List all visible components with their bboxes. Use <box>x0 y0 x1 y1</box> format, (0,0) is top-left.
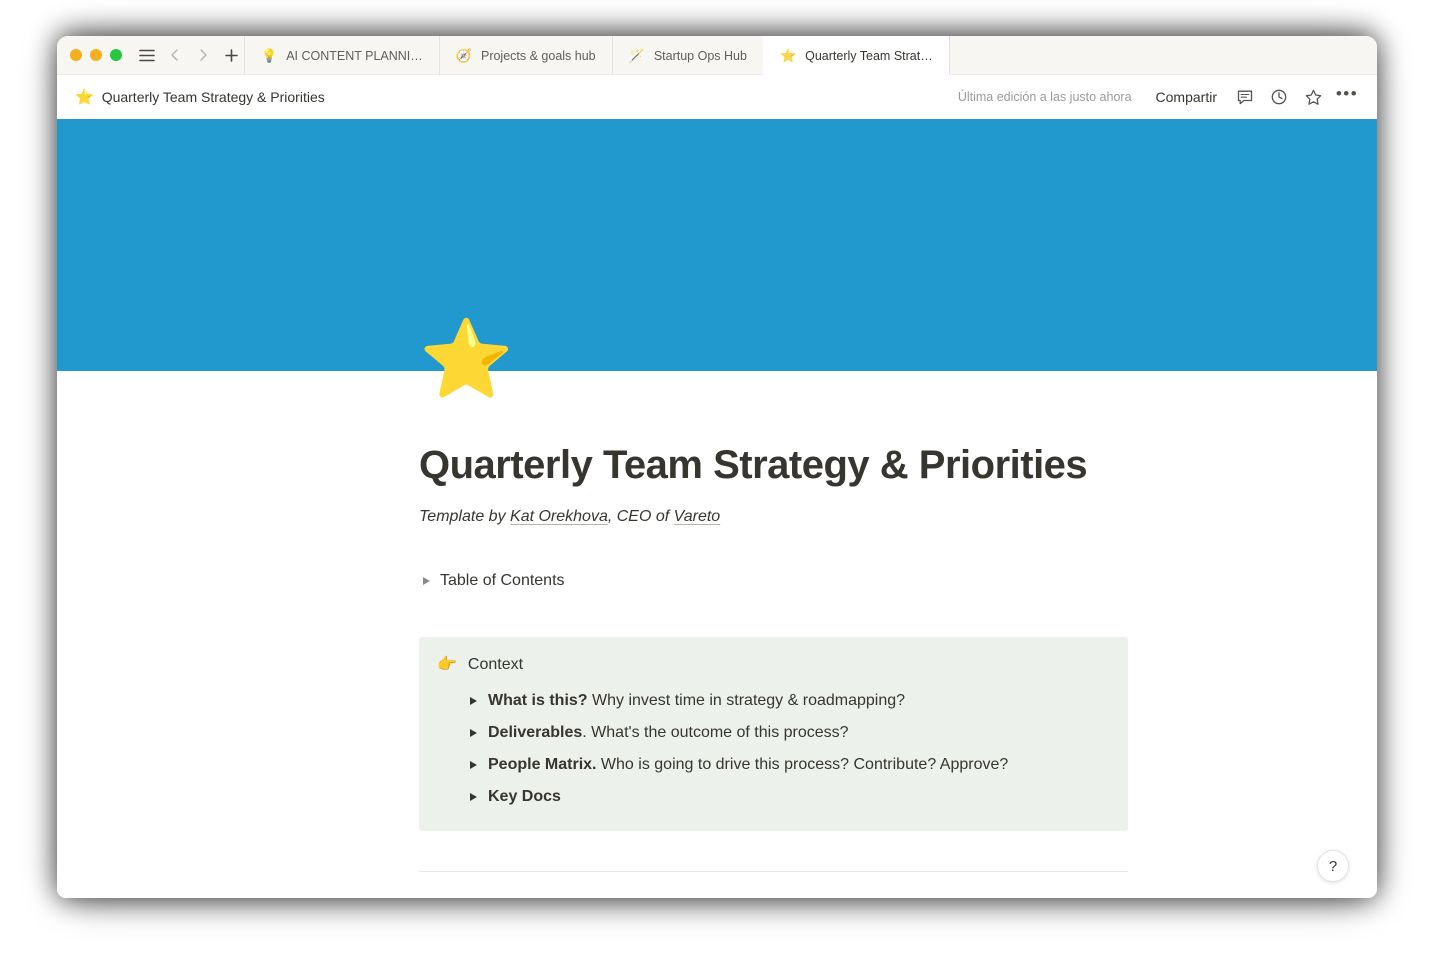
navigation-controls <box>126 36 244 74</box>
toggle-bold: Key Docs <box>488 788 561 805</box>
maximize-window-button[interactable] <box>110 49 122 61</box>
favorite-star-icon[interactable] <box>1299 83 1327 111</box>
header-actions: Última edición a las justo ahora Compart… <box>958 83 1361 111</box>
tab-quarterly-team-strategy[interactable]: ⭐ Quarterly Team Strat… <box>763 36 949 75</box>
toggle-rest: Why invest time in strategy & roadmappin… <box>588 692 905 709</box>
breadcrumb[interactable]: ⭐ Quarterly Team Strategy & Priorities <box>75 89 325 105</box>
page-title[interactable]: Quarterly Team Strategy & Priorities <box>419 443 1127 487</box>
toggle-bold: People Matrix. <box>488 756 596 773</box>
page-cover-banner[interactable] <box>57 119 1377 371</box>
document-content: Quarterly Team Strategy & Priorities Tem… <box>57 371 1377 898</box>
desktop-background: 💡 AI CONTENT PLANNI… 🧭 Projects & goals … <box>0 0 1432 972</box>
star-icon: ⭐ <box>75 90 94 105</box>
toggle-rest: Who is going to drive this process? Cont… <box>596 756 1008 773</box>
document-body: ⭐ Quarterly Team Strategy & Priorities T… <box>57 119 1377 898</box>
comment-icon[interactable] <box>1231 83 1259 111</box>
page-subtitle: Template by Kat Orekhova, CEO of Vareto <box>419 506 1127 528</box>
tab-strip: 💡 AI CONTENT PLANNI… 🧭 Projects & goals … <box>244 36 1377 74</box>
history-icon[interactable] <box>1265 83 1293 111</box>
tab-label: AI CONTENT PLANNI… <box>286 49 423 63</box>
section-divider <box>419 871 1128 872</box>
breadcrumb-label: Quarterly Team Strategy & Priorities <box>102 89 325 105</box>
toggle-item-key-docs[interactable]: Key Docs <box>470 781 1112 813</box>
toggle-text: Key Docs <box>488 785 561 809</box>
subtitle-middle: , CEO of <box>608 508 674 525</box>
toggle-text: What is this? Why invest time in strateg… <box>488 689 905 713</box>
sidebar-toggle-icon[interactable] <box>134 42 160 68</box>
share-button[interactable]: Compartir <box>1148 85 1225 109</box>
tab-strip-empty-area <box>949 36 1377 74</box>
close-window-button[interactable] <box>70 49 82 61</box>
toggle-item-people-matrix[interactable]: People Matrix. Who is going to drive thi… <box>470 749 1112 781</box>
callout-title: Context <box>468 653 523 677</box>
author-link[interactable]: Kat Orekhova <box>510 508 608 525</box>
page-icon-star[interactable]: ⭐ <box>419 322 514 398</box>
table-of-contents-toggle[interactable]: Table of Contents <box>419 569 1127 593</box>
chevron-right-icon <box>470 793 477 801</box>
toc-label: Table of Contents <box>440 569 565 593</box>
last-edited-text: Última edición a las justo ahora <box>958 90 1132 104</box>
notion-app-window: 💡 AI CONTENT PLANNI… 🧭 Projects & goals … <box>57 36 1377 898</box>
forward-arrow-icon[interactable] <box>190 42 216 68</box>
toggle-item-deliverables[interactable]: Deliverables. What's the outcome of this… <box>470 717 1112 749</box>
star-icon: ⭐ <box>780 49 796 62</box>
browser-tab-bar: 💡 AI CONTENT PLANNI… 🧭 Projects & goals … <box>57 36 1377 75</box>
tab-projects-goals-hub[interactable]: 🧭 Projects & goals hub <box>439 36 612 75</box>
chevron-right-icon <box>470 729 477 737</box>
toggle-text: Deliverables. What's the outcome of this… <box>488 721 849 745</box>
pointing-right-icon: 👉 <box>437 653 457 677</box>
toggle-item-what-is-this[interactable]: What is this? Why invest time in strateg… <box>470 685 1112 717</box>
tab-label: Projects & goals hub <box>481 49 596 63</box>
help-button[interactable]: ? <box>1317 850 1349 882</box>
tab-ai-content-planning[interactable]: 💡 AI CONTENT PLANNI… <box>244 36 439 75</box>
back-arrow-icon[interactable] <box>162 42 188 68</box>
compass-icon: 🧭 <box>456 49 472 62</box>
context-callout: 👉 Context What is this? Why invest time … <box>419 637 1128 831</box>
chevron-right-icon <box>470 697 477 705</box>
new-tab-icon[interactable] <box>218 42 244 68</box>
tab-label: Quarterly Team Strat… <box>805 49 933 63</box>
page-header-bar: ⭐ Quarterly Team Strategy & Priorities Ú… <box>57 75 1377 119</box>
subtitle-prefix: Template by <box>419 508 510 525</box>
toggle-text: People Matrix. Who is going to drive thi… <box>488 753 1008 777</box>
toggle-bold: Deliverables <box>488 724 582 741</box>
company-link[interactable]: Vareto <box>674 508 721 525</box>
minimize-window-button[interactable] <box>90 49 102 61</box>
lightbulb-icon: 💡 <box>261 49 277 62</box>
callout-header: 👉 Context <box>437 653 1112 677</box>
toggle-bold: What is this? <box>488 692 588 709</box>
chevron-right-icon <box>423 577 430 585</box>
chevron-right-icon <box>470 761 477 769</box>
tab-label: Startup Ops Hub <box>654 49 747 63</box>
callout-toggle-list: What is this? Why invest time in strateg… <box>437 685 1112 813</box>
magic-wand-icon: 🪄 <box>629 49 645 62</box>
toggle-rest: . What's the outcome of this process? <box>582 724 848 741</box>
tab-startup-ops-hub[interactable]: 🪄 Startup Ops Hub <box>612 36 763 75</box>
more-options-icon[interactable]: ••• <box>1333 83 1361 111</box>
window-traffic-lights <box>57 36 126 74</box>
